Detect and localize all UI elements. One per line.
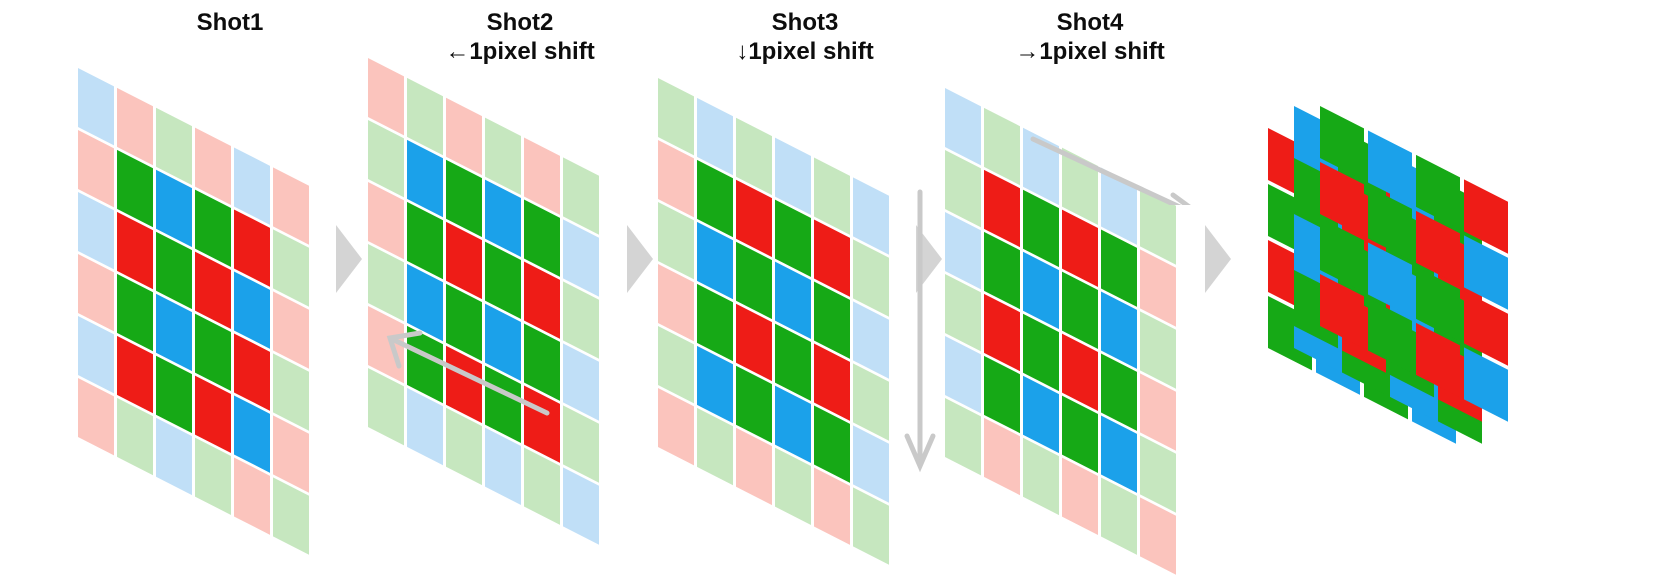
diagram-canvas: Shot1Shot2←1pixel shiftShot3↓1pixel shif… [0,0,1680,527]
composite-mosaic [0,0,1680,527]
